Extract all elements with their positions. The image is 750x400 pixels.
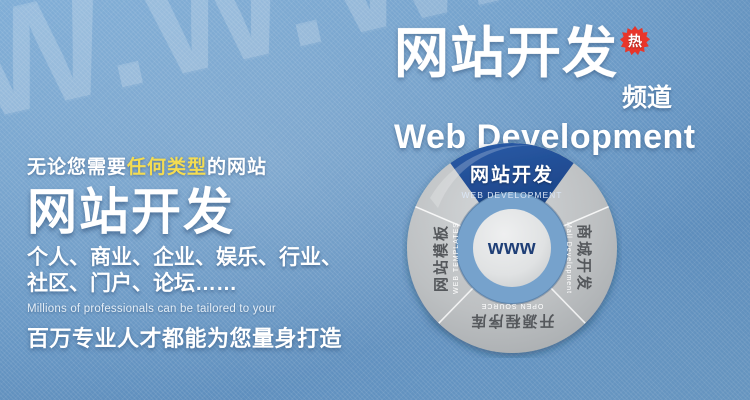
copy-line1-suffix: 的网站 [207, 157, 267, 178]
donut-svg [402, 138, 622, 358]
copy-categories: 个人、商业、企业、娱乐、行业、 社区、门户、论坛…… [27, 245, 377, 298]
channel-label: 频道 [622, 78, 672, 114]
copy-line1-prefix: 无论您需要 [27, 157, 127, 178]
header-title-cn: 网站开发 [394, 26, 618, 81]
copy-headline: 网站开发 [27, 187, 377, 238]
copy-tagline: 百万专业人才都能为您量身打造 [27, 321, 377, 353]
copy-line1: 无论您需要任何类型的网站 [27, 152, 377, 179]
header-title-row: 网站开发 热 频道 [394, 26, 734, 114]
hot-badge-wrap: 热 频道 [620, 26, 672, 114]
copy-block: 无论您需要任何类型的网站 网站开发 个人、商业、企业、娱乐、行业、 社区、门户、… [27, 152, 377, 353]
copy-categories-line1: 个人、商业、企业、娱乐、行业、 [27, 245, 377, 271]
copy-categories-line2: 社区、门户、论坛…… [27, 271, 377, 297]
hot-badge-label: 热 [628, 31, 642, 51]
copy-sub-en: Millions of professionals can be tailore… [27, 303, 377, 315]
donut-hub[interactable] [473, 209, 551, 287]
copy-line1-highlight: 任何类型 [127, 157, 207, 178]
donut-ring-group [407, 143, 617, 353]
promo-banner: W.W.W. 网站开发 热 频道 Web Development 无论您需要任何… [0, 0, 750, 400]
donut-diagram: www 网站开发 WEB DEVELOPMENT 网站模板 WEB TEMPLA… [402, 138, 622, 358]
hot-starburst-icon: 热 [620, 26, 650, 56]
